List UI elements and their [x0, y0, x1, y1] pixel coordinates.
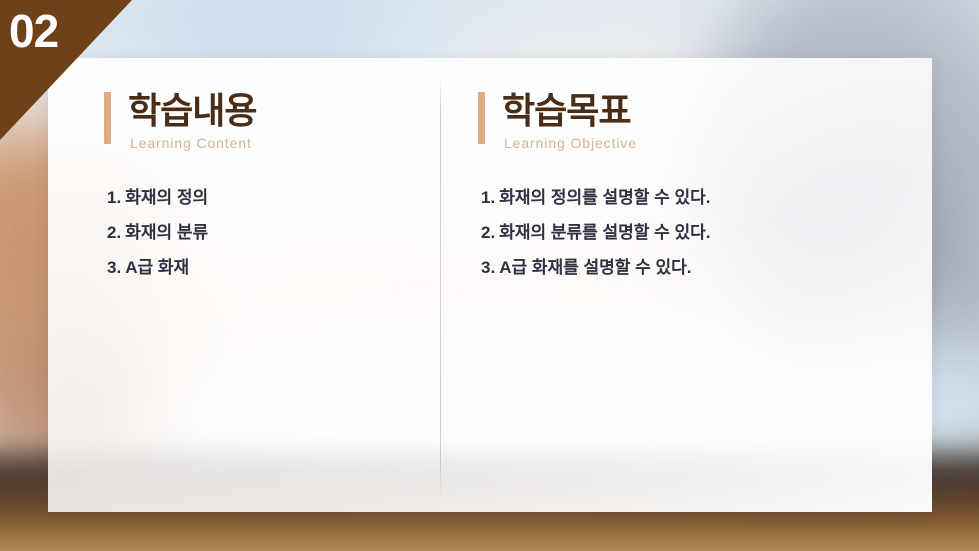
list-item: 1.화재의 정의 — [107, 189, 434, 206]
presentation-slide: 학습내용 Learning Content 1.화재의 정의 2.화재의 분류 … — [0, 0, 979, 551]
list-item: 2.화재의 분류 — [107, 224, 434, 241]
page-title-ko-left: 학습내용 — [128, 92, 434, 129]
page-subtitle-en-left: Learning Content — [130, 135, 434, 151]
list-item-label: 화재의 정의를 설명할 수 있다. — [499, 188, 710, 207]
list-item-number: 2. — [107, 223, 121, 242]
page-subtitle-en-right: Learning Objective — [504, 135, 898, 151]
accent-bar-icon — [478, 92, 485, 144]
list-item: 1.화재의 정의를 설명할 수 있다. — [481, 189, 898, 206]
list-item-label: A급 화재 — [125, 258, 189, 277]
column-divider — [440, 76, 441, 496]
heading-learning-content: 학습내용 Learning Content — [104, 92, 434, 151]
heading-learning-objective: 학습목표 Learning Objective — [478, 92, 898, 151]
list-item-label: A급 화재를 설명할 수 있다. — [499, 258, 691, 277]
list-item-label: 화재의 분류 — [125, 223, 208, 242]
list-item: 3.A급 화재 — [107, 259, 434, 276]
list-item-label: 화재의 정의 — [125, 188, 208, 207]
list-item-number: 2. — [481, 223, 495, 242]
list-item: 3.A급 화재를 설명할 수 있다. — [481, 259, 898, 276]
column-learning-content: 학습내용 Learning Content 1.화재의 정의 2.화재의 분류 … — [104, 58, 434, 294]
column-learning-objective: 학습목표 Learning Objective 1.화재의 정의를 설명할 수 … — [478, 58, 898, 294]
list-learning-objective: 1.화재의 정의를 설명할 수 있다. 2.화재의 분류를 설명할 수 있다. … — [478, 189, 898, 276]
content-card: 학습내용 Learning Content 1.화재의 정의 2.화재의 분류 … — [48, 58, 932, 512]
list-item-number: 3. — [107, 258, 121, 277]
list-item-number: 1. — [481, 188, 495, 207]
page-title-ko-right: 학습목표 — [502, 92, 898, 129]
list-item: 2.화재의 분류를 설명할 수 있다. — [481, 224, 898, 241]
list-item-number: 3. — [481, 258, 495, 277]
list-item-label: 화재의 분류를 설명할 수 있다. — [499, 223, 710, 242]
accent-bar-icon — [104, 92, 111, 144]
list-learning-content: 1.화재의 정의 2.화재의 분류 3.A급 화재 — [104, 189, 434, 276]
list-item-number: 1. — [107, 188, 121, 207]
